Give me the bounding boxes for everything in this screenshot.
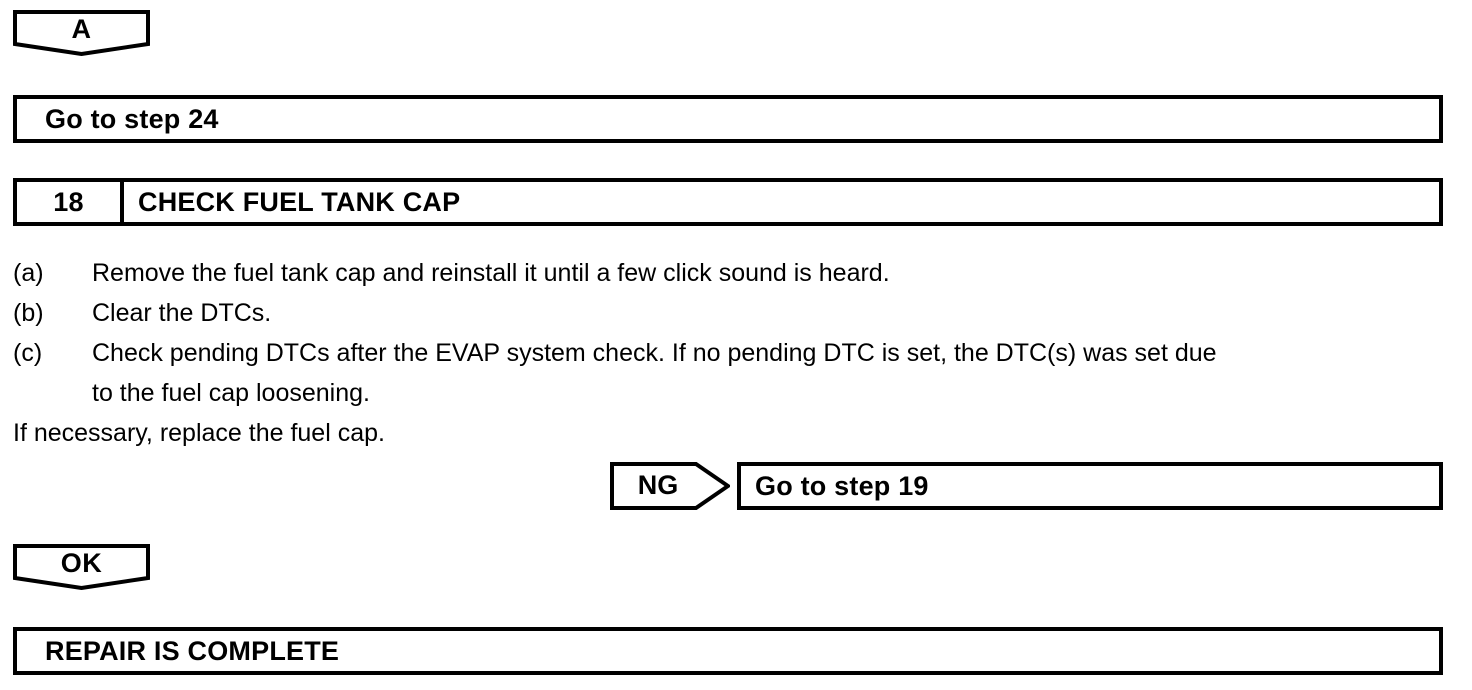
- instruction-note: If necessary, replace the fuel cap.: [13, 413, 1458, 453]
- step-title: CHECK FUEL TANK CAP: [124, 182, 1439, 222]
- instruction-text: Clear the DTCs.: [92, 293, 1458, 333]
- step-header-18[interactable]: 18 CHECK FUEL TANK CAP: [13, 178, 1443, 226]
- instruction-item-c: (c) Check pending DTCs after the EVAP sy…: [13, 333, 1458, 413]
- instruction-item-a: (a) Remove the fuel tank cap and reinsta…: [13, 253, 1458, 293]
- instruction-text-line2: to the fuel cap loosening.: [92, 373, 1458, 413]
- ng-result-label: NG: [610, 462, 706, 510]
- instruction-text-line1: Check pending DTCs after the EVAP system…: [92, 339, 1217, 367]
- instruction-marker: (a): [13, 253, 92, 293]
- connector-ok-label: OK: [13, 544, 150, 582]
- goto-step-24-bar[interactable]: Go to step 24: [13, 95, 1443, 143]
- repair-complete-label: REPAIR IS COMPLETE: [17, 631, 1439, 671]
- goto-step-24-label: Go to step 24: [17, 99, 1439, 139]
- flowchart-page: A Go to step 24 18 CHECK FUEL TANK CAP (…: [0, 0, 1472, 690]
- goto-step-19-bar[interactable]: Go to step 19: [737, 462, 1443, 510]
- ng-result-tag[interactable]: NG: [610, 462, 730, 510]
- instruction-item-b: (b) Clear the DTCs.: [13, 293, 1458, 333]
- instruction-text: Remove the fuel tank cap and reinstall i…: [92, 253, 1458, 293]
- instruction-list: (a) Remove the fuel tank cap and reinsta…: [13, 253, 1458, 453]
- connector-a[interactable]: A: [13, 10, 150, 56]
- instruction-marker: (b): [13, 293, 92, 333]
- connector-a-label: A: [13, 10, 150, 48]
- repair-complete-bar[interactable]: REPAIR IS COMPLETE: [13, 627, 1443, 675]
- instruction-marker: (c): [13, 333, 92, 373]
- connector-ok[interactable]: OK: [13, 544, 150, 590]
- step-number: 18: [17, 182, 124, 222]
- instruction-text: Check pending DTCs after the EVAP system…: [92, 333, 1458, 413]
- goto-step-19-label: Go to step 19: [741, 466, 1439, 506]
